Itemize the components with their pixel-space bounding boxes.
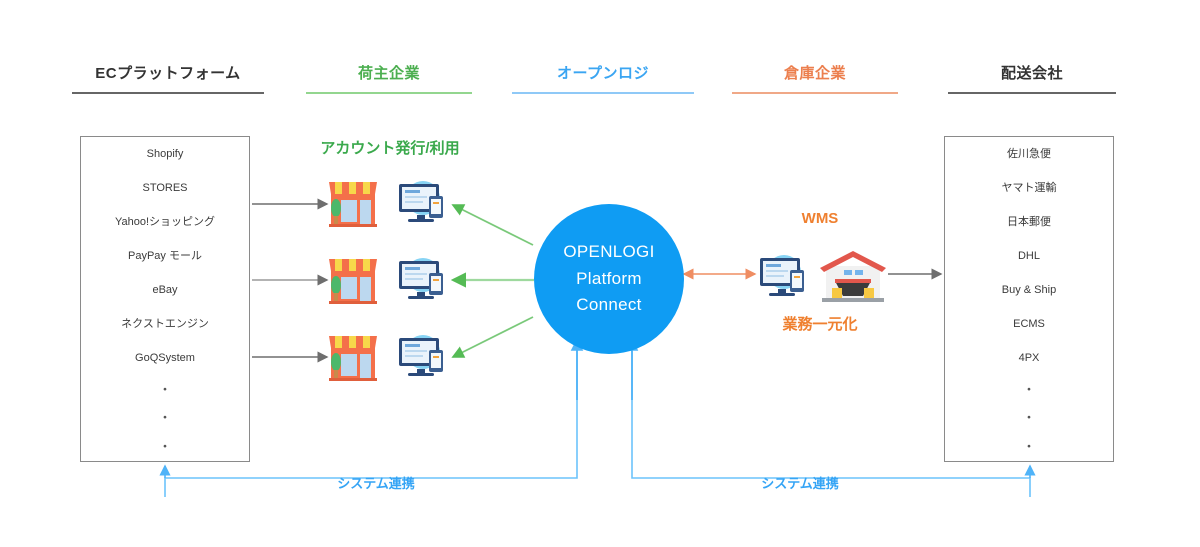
openlogi-platform-connect-node: OPENLOGI Platform Connect [534, 204, 684, 354]
storefront-icon [327, 249, 379, 305]
center-line-1: OPENLOGI [563, 239, 654, 265]
wms-label: WMS [770, 210, 870, 227]
center-line-2: Platform [576, 266, 642, 292]
desktop-computer-icon [395, 176, 451, 226]
desktop-computer-icon [756, 250, 812, 300]
warehouse-icon [818, 248, 888, 306]
connector-platform-to-shipper-3 [453, 317, 533, 357]
connector-platform-to-shipper-1 [453, 205, 533, 245]
desktop-computer-icon [395, 330, 451, 380]
system-link-label-right: システム連携 [730, 473, 870, 492]
storefront-icon [327, 326, 379, 382]
account-issue-label: アカウント発行/利用 [292, 137, 488, 158]
business-unification-label: 業務一元化 [760, 313, 880, 334]
system-link-label-left: システム連携 [306, 473, 446, 492]
center-line-3: Connect [576, 292, 641, 318]
diagram-canvas: ECプラットフォーム 荷主企業 オープンロジ 倉庫企業 配送会社 Shopify… [0, 0, 1200, 547]
storefront-icon [327, 172, 379, 228]
desktop-computer-icon [395, 253, 451, 303]
